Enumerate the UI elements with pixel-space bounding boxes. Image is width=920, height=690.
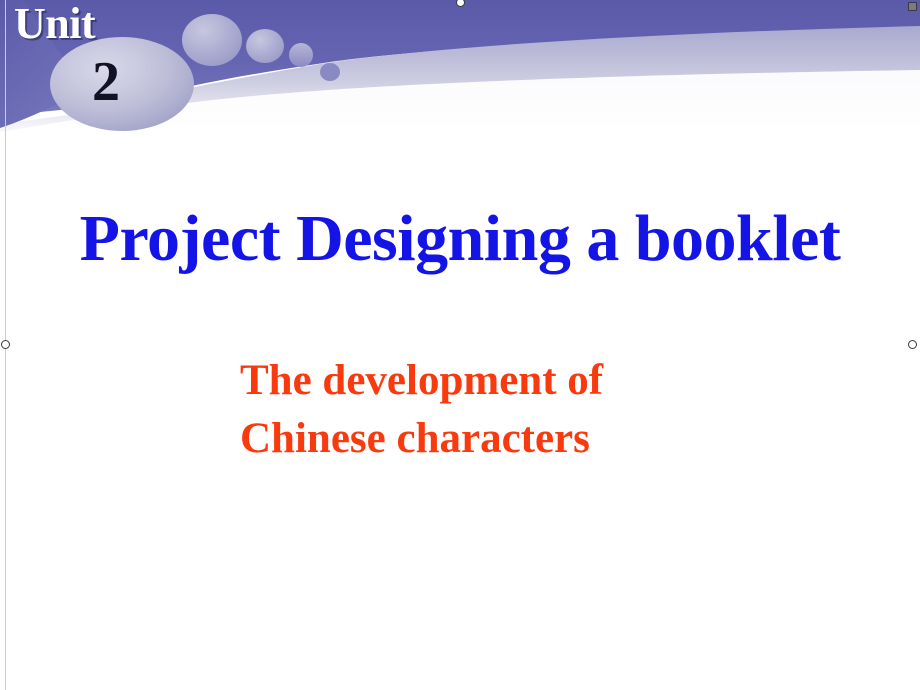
slide-canvas: Unit 2 Project Designing a booklet The d…	[0, 0, 920, 690]
subtitle-line-1: The development of	[240, 352, 760, 410]
banner-bubble-4	[320, 63, 340, 81]
top-right-handle[interactable]	[908, 2, 917, 11]
unit-number: 2	[92, 54, 120, 110]
banner-artwork	[0, 0, 920, 140]
page-title: Project Designing a booklet	[0, 203, 920, 274]
page-subtitle: The development of Chinese characters	[240, 352, 760, 468]
subtitle-line-2: Chinese characters	[240, 410, 760, 468]
banner-bubble-2	[246, 29, 284, 63]
left-middle-handle[interactable]	[1, 340, 10, 349]
unit-label: Unit	[14, 2, 95, 46]
unit-banner: Unit 2	[0, 0, 920, 140]
banner-bubble-1	[182, 14, 242, 66]
right-middle-handle[interactable]	[908, 340, 917, 349]
banner-bubble-3	[289, 43, 313, 67]
